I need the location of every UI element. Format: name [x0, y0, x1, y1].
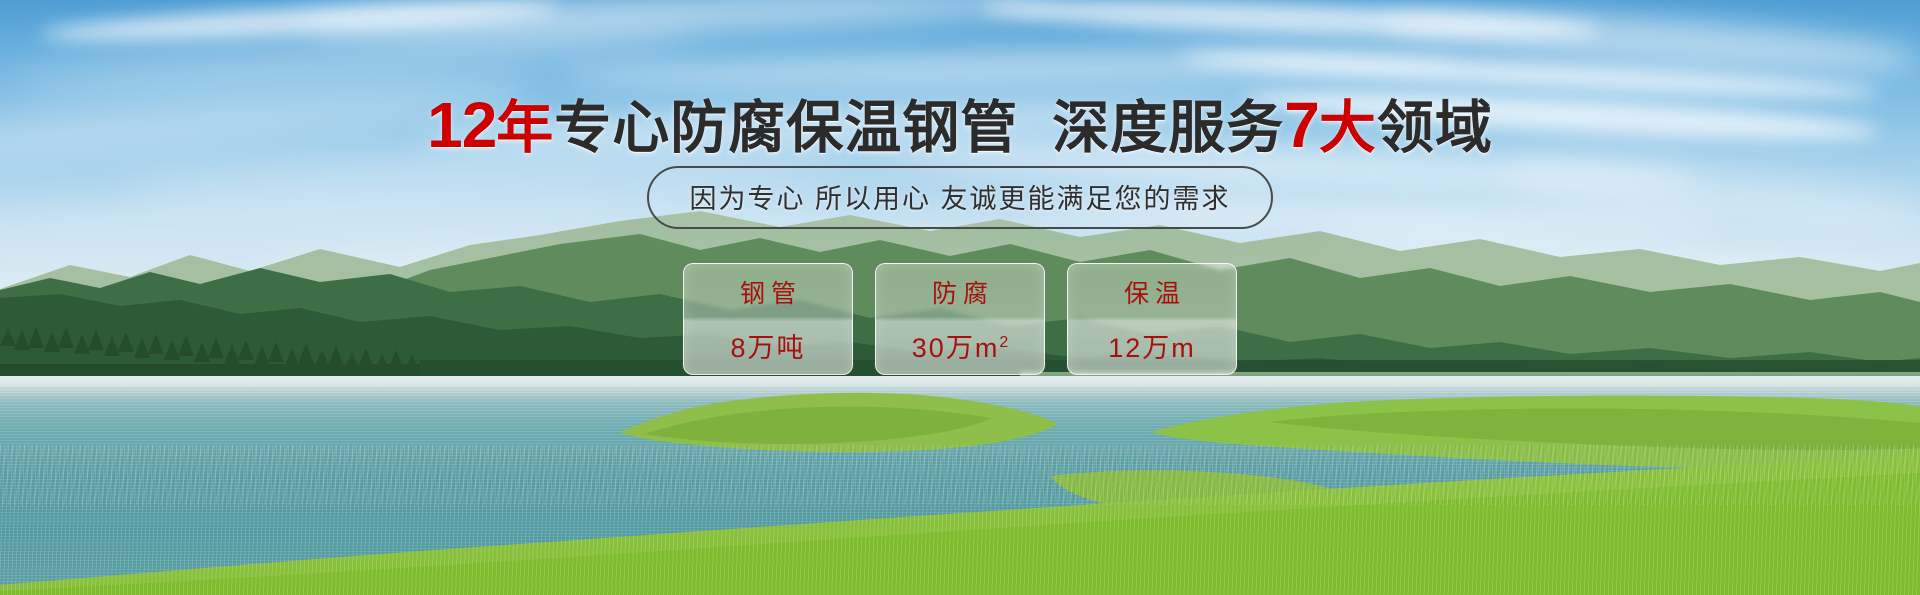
stat-card-value-sup: 2 [999, 334, 1008, 351]
headline-fields-number: 7 [1284, 89, 1319, 161]
hero-banner: 12年专心防腐保温钢管深度服务7大领域 因为专心 所以用心 友诚更能满足您的需求… [0, 0, 1920, 595]
stat-card-value-text: 12万m [1108, 333, 1196, 363]
stat-card-value-text: 30万m [912, 333, 1000, 363]
stat-card-value-text: 8万吨 [730, 333, 805, 363]
stat-card-label: 保温 [1118, 274, 1186, 310]
stat-card-group: 钢管 8万吨 防腐 30万m2 保温 12万m [0, 263, 1920, 375]
stat-card-value: 30万m2 [912, 326, 1008, 365]
headline-years-number: 12 [427, 89, 496, 161]
headline-fields-text: 领域 [1377, 96, 1493, 160]
stat-card[interactable]: 保温 12万m [1067, 263, 1237, 375]
foreground-grass [0, 445, 1920, 595]
stat-card-label: 防腐 [926, 274, 994, 310]
grass-texture [0, 445, 1920, 595]
headline-service-text: 深度服务 [1052, 96, 1284, 160]
banner-headline: 12年专心防腐保温钢管深度服务7大领域 [0, 82, 1920, 164]
headline-main-text: 专心防腐保温钢管 [554, 96, 1018, 160]
stat-card-value: 12万m [1108, 326, 1196, 365]
stat-card-value: 8万吨 [730, 326, 805, 365]
stat-card[interactable]: 钢管 8万吨 [683, 263, 853, 375]
headline-years-unit: 年 [496, 96, 554, 160]
stat-card[interactable]: 防腐 30万m2 [875, 263, 1045, 375]
subtitle-pill: 因为专心 所以用心 友诚更能满足您的需求 [647, 166, 1272, 229]
headline-fields-unit: 大 [1319, 96, 1377, 160]
stat-card-label: 钢管 [734, 274, 802, 310]
subtitle-container: 因为专心 所以用心 友诚更能满足您的需求 [0, 166, 1920, 229]
